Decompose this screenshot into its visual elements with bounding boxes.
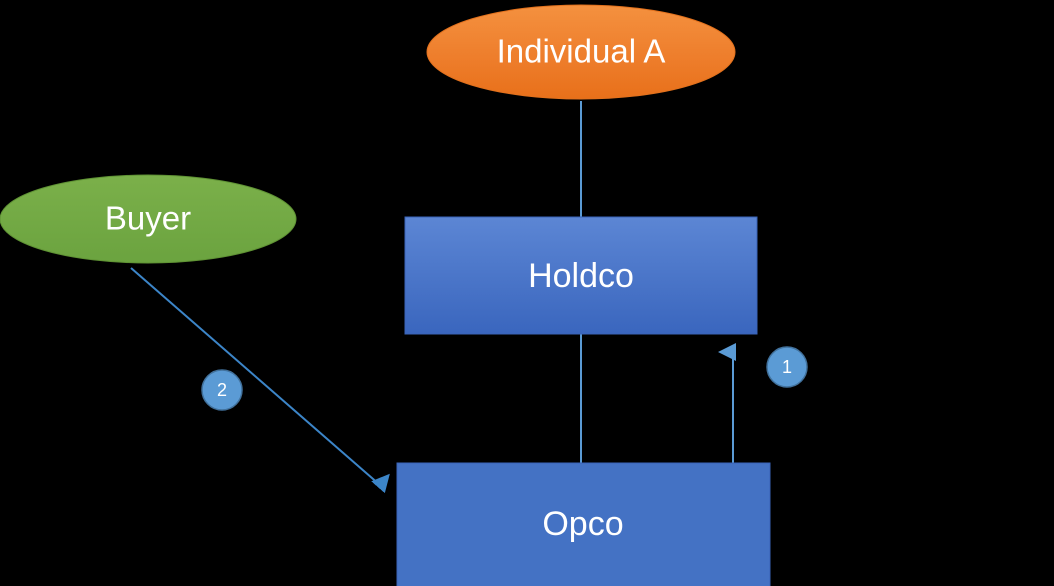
step-badge-2[interactable]: 2 [202,370,242,410]
opco-label: Opco [542,505,623,543]
buyer-label: Buyer [105,200,191,237]
node-buyer[interactable]: Buyer [0,175,296,263]
node-holdco[interactable]: Holdco [405,217,757,334]
connector-buyer-to-opco-arrow [131,268,380,485]
holdco-label: Holdco [528,257,634,295]
badge-2-label: 2 [217,380,227,400]
structure-diagram: Individual A Buyer Holdco Opco 1 2 [0,0,1054,586]
individual-a-label: Individual A [497,33,666,70]
node-opco[interactable]: Opco [397,463,770,586]
diagram-canvas: Individual A Buyer Holdco Opco 1 2 [0,0,1054,586]
step-badge-1[interactable]: 1 [767,347,807,387]
node-individual-a[interactable]: Individual A [427,5,735,99]
badge-1-label: 1 [782,357,792,377]
